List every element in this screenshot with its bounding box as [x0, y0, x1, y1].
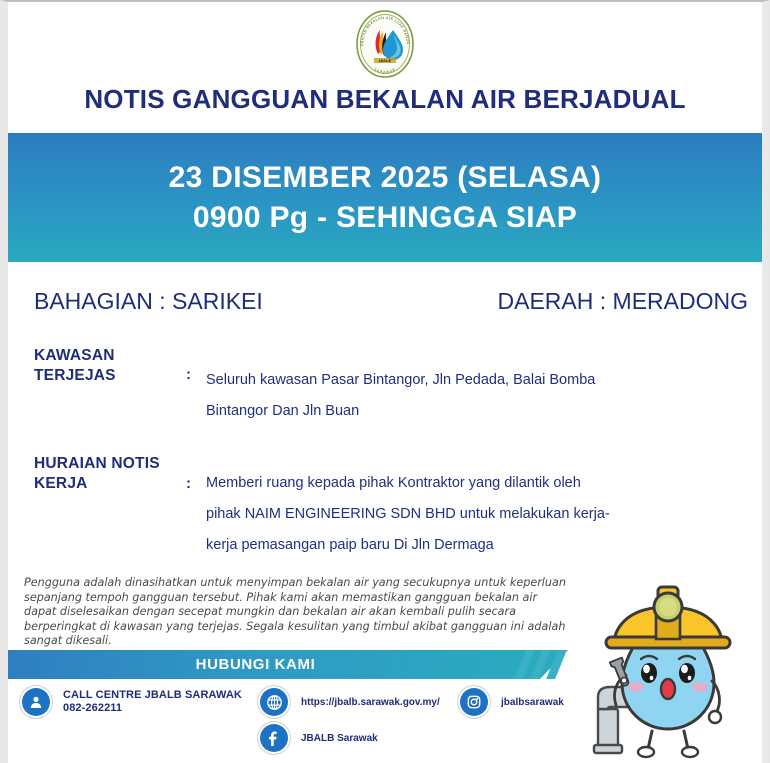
contact-item-website[interactable]: https://jbalb.sarawak.gov.my/	[260, 688, 440, 716]
hard-hat-icon	[606, 587, 730, 648]
contact-banner-title: HUBUNGI KAMI	[8, 650, 503, 679]
huraian-value-line2: pihak NAIM ENGINEERING SDN BHD untuk mel…	[206, 499, 746, 530]
kawasan-label-line1: KAWASAN	[34, 346, 174, 366]
svg-text:JBALB: JBALB	[378, 59, 391, 63]
kawasan-value-line1: Seluruh kawasan Pasar Bintangor, Jln Ped…	[206, 365, 726, 396]
globe-icon	[260, 688, 288, 716]
notice-header: JABATAN BEKALAN AIR LUAR BANDAR JBALB SA…	[8, 2, 762, 130]
instagram-handle: jbalbsarawak	[501, 696, 564, 709]
notice-sheet: JABATAN BEKALAN AIR LUAR BANDAR JBALB SA…	[8, 2, 762, 763]
facebook-icon	[260, 724, 288, 752]
huraian-label-line2: KERJA	[34, 474, 174, 494]
date-banner: 23 DISEMBER 2025 (SELASA) 0900 Pg - SEHI…	[8, 133, 762, 262]
division-row: BAHAGIAN : SARIKEI DAERAH : MERADONG	[8, 288, 762, 318]
huraian-value: Memberi ruang kepada pihak Kontraktor ya…	[206, 468, 746, 561]
bahagian-label: BAHAGIAN : SARIKEI	[34, 288, 263, 315]
call-centre-name: CALL CENTRE JBALB SARAWAK	[63, 689, 242, 702]
disruption-date: 23 DISEMBER 2025 (SELASA)	[169, 158, 602, 198]
kawasan-label: KAWASAN TERJEJAS	[34, 346, 174, 386]
kawasan-label-line2: TERJEJAS	[34, 366, 174, 386]
notice-page: JABATAN BEKALAN AIR LUAR BANDAR JBALB SA…	[0, 0, 770, 763]
contact-item-call-centre[interactable]: CALL CENTRE JBALB SARAWAK 082-262211	[22, 688, 242, 716]
water-droplet-mascot-icon	[588, 563, 756, 763]
huraian-label: HURAIAN NOTIS KERJA	[34, 454, 174, 494]
instagram-icon	[460, 688, 488, 716]
facebook-handle: JBALB Sarawak	[301, 732, 378, 745]
page-title: NOTIS GANGGUAN BEKALAN AIR BERJADUAL	[8, 84, 762, 115]
huraian-colon: :	[186, 475, 191, 492]
kawasan-colon: :	[186, 366, 191, 383]
user-icon	[22, 688, 50, 716]
huraian-value-line3: kerja pemasangan paip baru Di Jln Dermag…	[206, 530, 746, 561]
jbalb-logo-icon: JABATAN BEKALAN AIR LUAR BANDAR JBALB SA…	[349, 8, 421, 80]
call-centre-text: CALL CENTRE JBALB SARAWAK 082-262211	[63, 689, 242, 715]
contact-banner: HUBUNGI KAMI	[8, 650, 568, 679]
daerah-label: DAERAH : MERADONG	[498, 288, 748, 315]
disruption-time: 0900 Pg - SEHINGGA SIAP	[193, 198, 577, 238]
call-centre-number: 082-262211	[63, 702, 242, 715]
huraian-value-line1: Memberi ruang kepada pihak Kontraktor ya…	[206, 468, 746, 499]
kawasan-value-line2: Bintangor Dan Jln Buan	[206, 396, 726, 427]
contact-item-instagram[interactable]: jbalbsarawak	[460, 688, 564, 716]
disclaimer-text: Pengguna adalah dinasihatkan untuk menyi…	[24, 576, 566, 649]
kawasan-value: Seluruh kawasan Pasar Bintangor, Jln Ped…	[206, 365, 726, 427]
huraian-label-line1: HURAIAN NOTIS	[34, 454, 174, 474]
website-url: https://jbalb.sarawak.gov.my/	[301, 696, 440, 709]
contact-item-facebook[interactable]: JBALB Sarawak	[260, 724, 378, 752]
